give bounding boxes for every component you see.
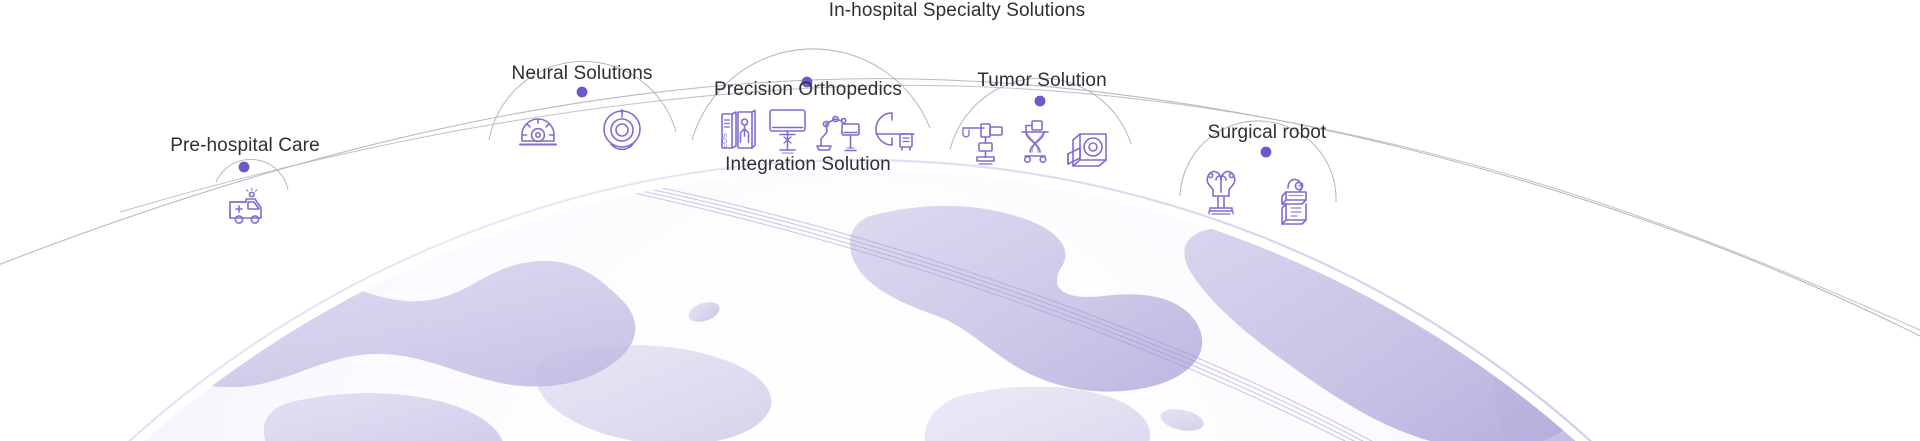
label-surgical-robot: Surgical robot	[1208, 121, 1327, 145]
node-dot-neural	[577, 87, 588, 98]
continent-shape	[1409, 155, 1466, 197]
ct-gantry-icon	[1068, 134, 1106, 166]
radiotherapy-arm-icon	[963, 124, 1002, 164]
ambulance-icon	[230, 188, 261, 223]
robot-console-icon	[1282, 179, 1306, 224]
infographic-root: EOS	[0, 0, 1920, 441]
continent-shape	[1471, 187, 1502, 208]
continent-shape	[1494, 188, 1920, 441]
neuro-scanner-icon	[604, 109, 640, 149]
node-dot-tumor	[1035, 96, 1046, 107]
label-pre-hospital-care: Pre-hospital Care	[170, 134, 320, 158]
label-in-hospital-specialty: In-hospital Specialty Solutions	[829, 0, 1086, 23]
label-precision-orthopedics: Precision Orthopedics Integration Soluti…	[714, 27, 902, 227]
surgical-cart-icon	[1022, 121, 1048, 162]
node-dot-surgical-robot	[1261, 147, 1272, 158]
label-line-1: Precision Orthopedics	[714, 77, 902, 102]
scene-svg: EOS	[0, 0, 1920, 441]
label-line-2: Integration Solution	[714, 152, 902, 177]
neuro-navigation-ring-icon	[520, 119, 556, 145]
label-tumor-solution: Tumor Solution	[977, 69, 1107, 93]
label-neural-solutions: Neural Solutions	[511, 62, 652, 86]
node-dot-pre-hospital	[239, 162, 250, 173]
globe	[0, 155, 1920, 441]
robot-arms-tower-icon	[1207, 171, 1235, 214]
